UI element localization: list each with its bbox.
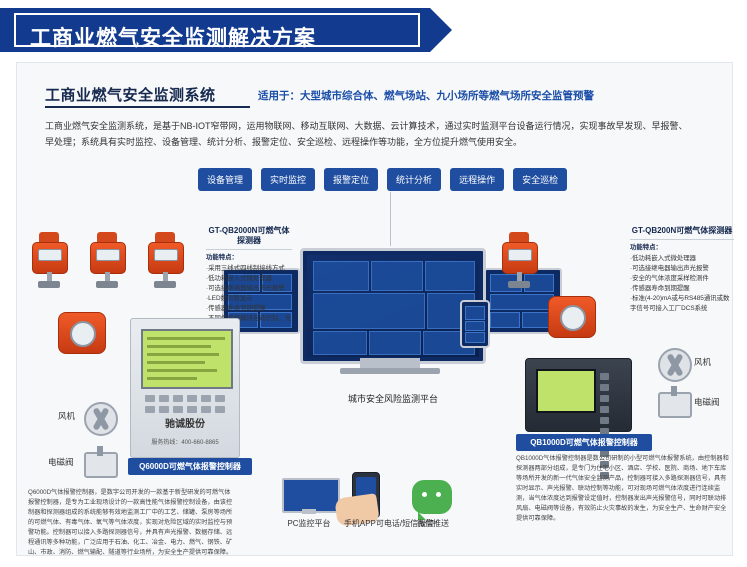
pc-device [282, 478, 336, 514]
gas-detector-right-1 [498, 232, 540, 290]
left-info-line-1: ·采用三线式四线制接线方式 [206, 264, 292, 274]
right-info-line-3: ·安全的气体浓度采样检测件 [630, 274, 734, 284]
pill-realtime-monitoring[interactable]: 实时监控 [261, 168, 315, 191]
right-alarm-controller [525, 358, 632, 432]
left-product-info-subtitle: 功能特点： [206, 253, 292, 263]
fan-label-right: 风机 [694, 356, 711, 368]
feature-pill-row: 设备管理 实时监控 报警定位 统计分析 远程操作 安全巡检 [198, 168, 580, 191]
left-footnote: Q6000D气体报警控制器，是数字公司开发的一款基于新型研发的可燃气体报警控制器… [28, 488, 236, 558]
pc-platform-label: PC监控平台 [276, 518, 342, 529]
valve-label-right: 电磁阀 [694, 396, 720, 408]
monitor-stand-base [340, 368, 440, 374]
left-controller-screen [141, 329, 233, 389]
gas-detector-right-round [548, 296, 594, 342]
tablet-mock [460, 300, 490, 348]
header-banner: 工商业燃气安全监测解决方案 [0, 8, 430, 52]
right-controller-screen [536, 369, 596, 413]
wechat-push-label: 微信推送 [404, 518, 462, 529]
poster-root: 工商业燃气安全监测解决方案 工商业燃气安全监测系统 适用于：大型城市综合体、燃气… [0, 0, 747, 567]
banner-title: 工商业燃气安全监测解决方案 [30, 22, 316, 52]
right-product-info-subtitle: 功能特点： [630, 243, 734, 253]
gas-detector-left-2 [86, 232, 128, 290]
left-alarm-controller: 驰诚股份 服务热线：400-660-8865 [130, 318, 240, 458]
section-title: 工商业燃气安全监测系统 [45, 84, 216, 105]
central-monitor [300, 248, 486, 364]
left-controller-label: Q6000D可燃气体报警控制器 [128, 458, 252, 475]
fan-icon-right [658, 348, 692, 382]
valve-icon-right [658, 392, 692, 418]
wechat-icon [412, 480, 452, 514]
intro-paragraph: 工商业燃气安全监测系统，是基于NB-IOT窄带网，运用物联网、移动互联网、大数据… [45, 118, 695, 150]
right-product-info: GT-QB200N可燃气体探测器 功能特点： ·低功耗嵌入式微处理器 ·可选接继… [630, 226, 734, 314]
controller-service-phone: 服务热线：400-660-8865 [131, 437, 239, 446]
left-info-line-4: ·LED数码管显示 [206, 294, 292, 304]
gas-detector-left-1 [28, 232, 70, 290]
right-info-line-1: ·低功耗嵌入式微处理器 [630, 254, 734, 264]
platform-label: 城市安全风险监测平台 [323, 392, 463, 405]
fan-icon-left [84, 402, 118, 436]
pill-safety-inspection[interactable]: 安全巡检 [513, 168, 567, 191]
connector-line-center [390, 192, 391, 246]
monitor-stand-neck [360, 358, 420, 368]
left-info-line-5: ·传感器寿命到期提醒 [206, 304, 292, 314]
section-title-rule [45, 106, 250, 108]
left-info-line-3: ·可选接继电器输出声光报警 [206, 284, 292, 294]
right-info-line-2: ·可选接继电器输出声光报警 [630, 264, 734, 274]
pill-remote-operation[interactable]: 远程操作 [450, 168, 504, 191]
right-footnote: QB1000D气体报警控制器是数公司研制的小型可燃气体报警系统，由控制器和探测器… [516, 454, 730, 524]
right-info-line-5: ·标准(4-20)mA或与RS485通讯或数字信号可接入工厂DCS系统 [630, 294, 734, 314]
left-controller-keypad[interactable] [143, 393, 227, 409]
gas-detector-left-3 [144, 232, 186, 290]
central-monitor-screen [307, 255, 479, 357]
pill-statistics[interactable]: 统计分析 [387, 168, 441, 191]
valve-icon-left [84, 452, 118, 478]
left-product-info-title: GT-QB2000N可燃气体探测器 [206, 226, 292, 246]
right-controller-keypad[interactable] [598, 371, 622, 411]
pill-alarm-location[interactable]: 报警定位 [324, 168, 378, 191]
gas-detector-left-round [58, 312, 104, 358]
fan-label-left: 风机 [58, 410, 75, 422]
right-product-info-title: GT-QB200N可燃气体探测器 [630, 226, 734, 236]
applicability-text: 适用于：大型城市综合体、燃气场站、九小场所等燃气场所安全监管预警 [258, 88, 594, 103]
left-info-line-2: ·低功耗嵌入式微处理器 [206, 274, 292, 284]
pill-device-management[interactable]: 设备管理 [198, 168, 252, 191]
valve-label-left: 电磁阀 [48, 456, 74, 468]
controller-brand-name: 驰诚股份 [131, 415, 239, 430]
right-controller-label: QB1000D可燃气体报警控制器 [516, 434, 652, 451]
right-info-line-4: ·传感器寿命到期提醒 [630, 284, 734, 294]
